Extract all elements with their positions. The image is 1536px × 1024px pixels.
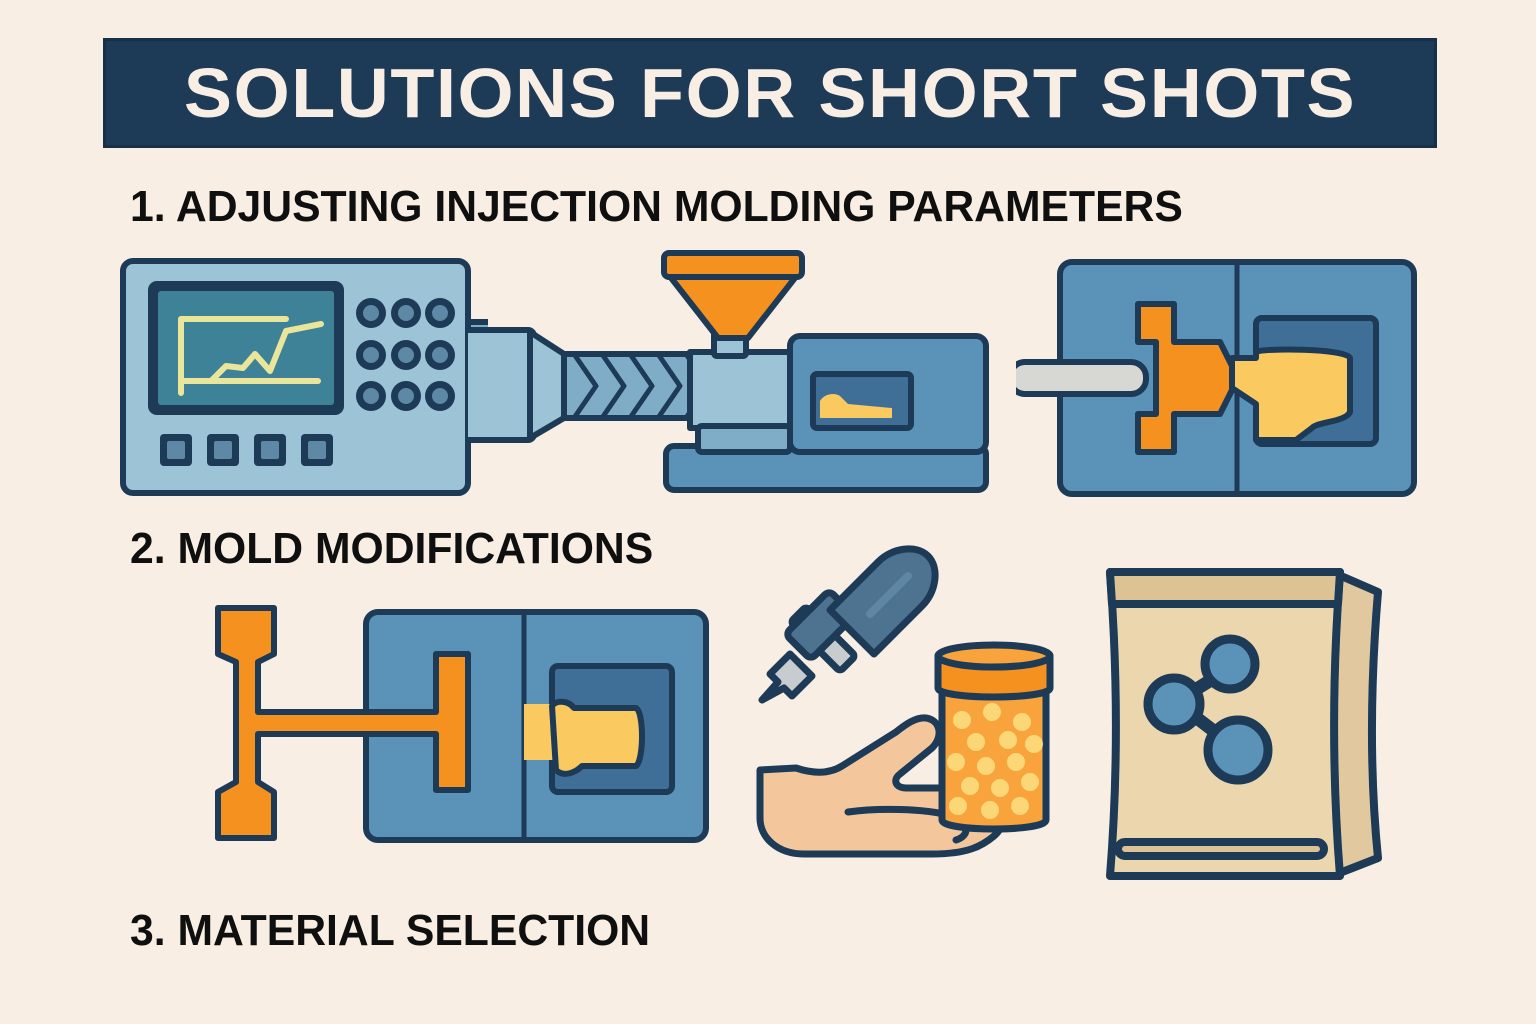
barrel-taper (530, 332, 564, 438)
mold-modification-figure (196, 600, 716, 852)
control-panel-illustration (118, 256, 488, 501)
section-heading-1: 1. Adjusting Injection Molding Parameter… (130, 182, 1183, 232)
pellet-jar-figure (756, 640, 1066, 880)
bag-bottom-seam (1118, 842, 1324, 856)
mold-diagram-figure-1 (1016, 252, 1420, 504)
section-heading-3: 3. Material Selection (130, 906, 650, 956)
hand-with-pellet-jar (756, 640, 1066, 880)
page-title: Solutions for Short Shots (184, 53, 1356, 133)
mold-cavity-diagram (1016, 252, 1420, 504)
screen (158, 291, 334, 405)
injection-machine-illustration (468, 246, 993, 498)
section-heading-2: 2. Mold Modifications (130, 524, 653, 574)
control-panel-figure (118, 256, 488, 501)
resin-bag-illustration (1088, 558, 1388, 888)
filled-part (552, 702, 642, 774)
housing-foot (698, 426, 790, 452)
jar-mouth (938, 645, 1050, 667)
injection-machine-figure (468, 246, 993, 498)
sprue-bar (1016, 362, 1146, 394)
infographic-canvas: Solutions for Short Shots 1. Adjusting I… (0, 0, 1536, 1024)
hopper-cone (668, 274, 798, 338)
hopper-rim (664, 253, 802, 277)
enlarged-runner-diagram (196, 600, 716, 852)
nozzle-housing (690, 352, 798, 428)
material-bag-figure (1088, 558, 1388, 888)
drive-block (468, 330, 534, 440)
title-banner: Solutions for Short Shots (103, 38, 1437, 148)
bag-top-seal (1110, 572, 1340, 604)
keypad-group[interactable] (356, 298, 455, 411)
